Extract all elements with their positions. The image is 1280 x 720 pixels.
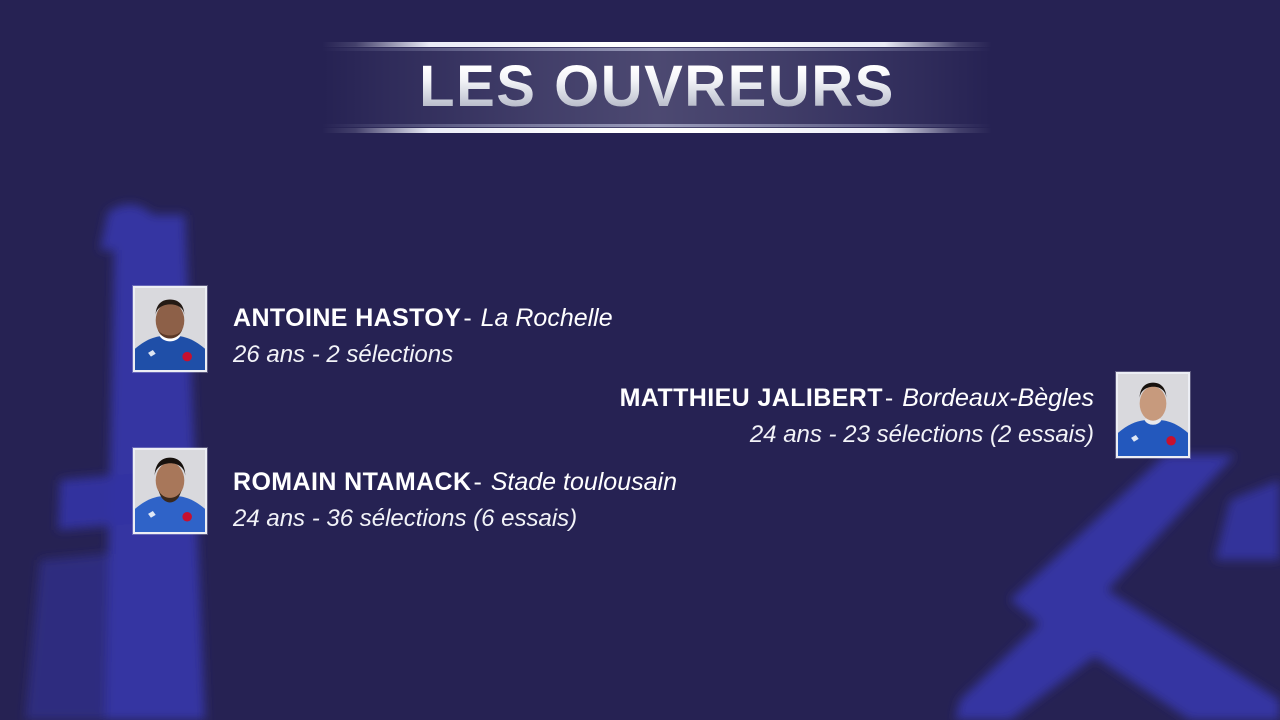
player-name: ROMAIN NTAMACK (233, 468, 471, 496)
player-info-ntamack: ROMAIN NTAMACK- Stade toulousain 24 ans … (233, 468, 677, 533)
player-name-line: MATTHIEU JALIBERT- Bordeaux-Bègles (620, 384, 1094, 414)
banner-rule-bottom (322, 128, 992, 133)
player-stats: 24 ans - 36 sélections (6 essais) (233, 505, 577, 534)
player-club: Stade toulousain (491, 468, 677, 496)
player-name-line: ROMAIN NTAMACK- Stade toulousain (233, 468, 677, 498)
player-stats: 26 ans - 2 sélections (233, 341, 453, 370)
title-banner: LES OUVREURS (322, 38, 992, 136)
player-row-ntamack: ROMAIN NTAMACK- Stade toulousain 24 ans … (133, 448, 677, 534)
portrait-illustration (135, 450, 205, 532)
player-name: MATTHIEU JALIBERT (620, 384, 883, 412)
name-club-separator: - (471, 468, 483, 496)
watermark-letter-k (955, 455, 1280, 720)
player-club: Bordeaux-Bègles (902, 384, 1094, 412)
name-club-separator: - (461, 304, 473, 332)
broadcast-graphic: LES OUVREURS ANTOINE HASTOY- La Rochelle… (0, 0, 1280, 720)
player-photo-jalibert (1116, 372, 1190, 458)
player-info-jalibert: MATTHIEU JALIBERT- Bordeaux-Bègles 24 an… (620, 384, 1094, 449)
player-name: ANTOINE HASTOY (233, 304, 461, 332)
player-stats: 24 ans - 23 sélections (2 essais) (750, 421, 1094, 450)
player-info-hastoy: ANTOINE HASTOY- La Rochelle 26 ans - 2 s… (233, 304, 613, 369)
portrait-illustration (1118, 374, 1188, 456)
player-club: La Rochelle (481, 304, 613, 332)
name-club-separator: - (883, 384, 895, 412)
player-name-line: ANTOINE HASTOY- La Rochelle (233, 304, 613, 334)
player-photo-ntamack (133, 448, 207, 534)
player-photo-hastoy (133, 286, 207, 372)
player-row-jalibert: MATTHIEU JALIBERT- Bordeaux-Bègles 24 an… (620, 372, 1190, 458)
portrait-illustration (135, 288, 205, 370)
page-title: LES OUVREURS (322, 46, 992, 128)
player-row-hastoy: ANTOINE HASTOY- La Rochelle 26 ans - 2 s… (133, 286, 613, 372)
